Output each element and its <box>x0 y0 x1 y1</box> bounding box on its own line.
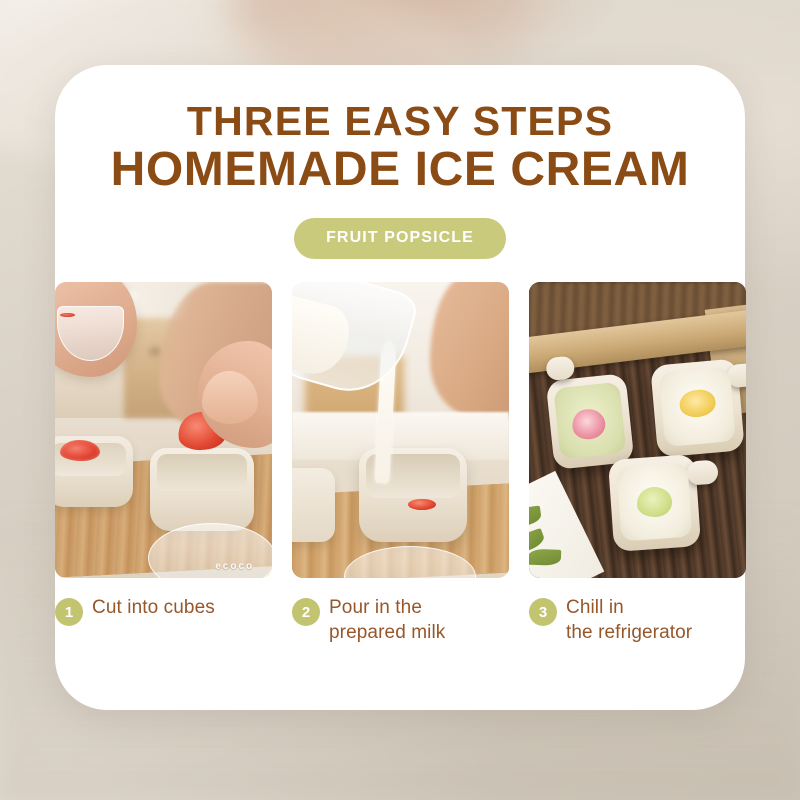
title-line-2: HOMEMADE ICE CREAM <box>55 145 745 196</box>
photo1-strawberry-in-mold <box>60 440 100 461</box>
photo2-person-torso <box>430 282 508 418</box>
photo3-mold-kiwi <box>608 454 701 552</box>
poster-stage: THREE EASY STEPS HOMEMADE ICE CREAM FRUI… <box>0 0 800 800</box>
photo1-cabinet-handle <box>150 348 160 355</box>
photo3-mold-mango <box>651 358 745 457</box>
step-number-badge-2: 2 <box>292 598 320 626</box>
step-label-2: Pour in the prepared milk <box>329 595 445 645</box>
title-block: THREE EASY STEPS HOMEMADE ICE CREAM <box>55 101 745 196</box>
step-number-badge-3: 3 <box>529 598 557 626</box>
fruit-popsicle-badge: FRUIT POPSICLE <box>294 218 506 259</box>
photo2-strawberry-slice <box>408 499 436 510</box>
photo-row: ecoco <box>55 282 745 578</box>
photo1-mold-right-cavity <box>157 454 247 490</box>
step-photo-2 <box>292 282 509 578</box>
step-item-2: 2 Pour in the prepared milk <box>292 595 509 645</box>
step-label-1: Cut into cubes <box>92 595 215 620</box>
step-photo-1: ecoco <box>55 282 272 578</box>
content-card: THREE EASY STEPS HOMEMADE ICE CREAM FRUI… <box>55 65 745 710</box>
photo1-brand-text: ecoco <box>215 561 254 572</box>
photo2-mold-side <box>292 468 335 542</box>
steps-row: 1 Cut into cubes 2 Pour in the prepared … <box>55 595 745 645</box>
step-label-3: Chill in the refrigerator <box>566 595 692 645</box>
photo1-mold-left <box>55 436 133 507</box>
step-number-badge-1: 1 <box>55 598 83 626</box>
photo3-leaf-icon-3 <box>529 549 562 566</box>
step-item-1: 1 Cut into cubes <box>55 595 272 645</box>
title-line-1: THREE EASY STEPS <box>55 101 745 143</box>
photo1-mold-right <box>150 448 254 531</box>
badge-wrapper: FRUIT POPSICLE <box>55 218 745 259</box>
photo1-bowl-fruit <box>60 313 74 317</box>
photo3-mold-strawberry <box>546 373 635 470</box>
step-item-3: 3 Chill in the refrigerator <box>529 595 746 645</box>
step-photo-3 <box>529 282 746 578</box>
photo3-leaf-icon-1 <box>529 506 543 529</box>
